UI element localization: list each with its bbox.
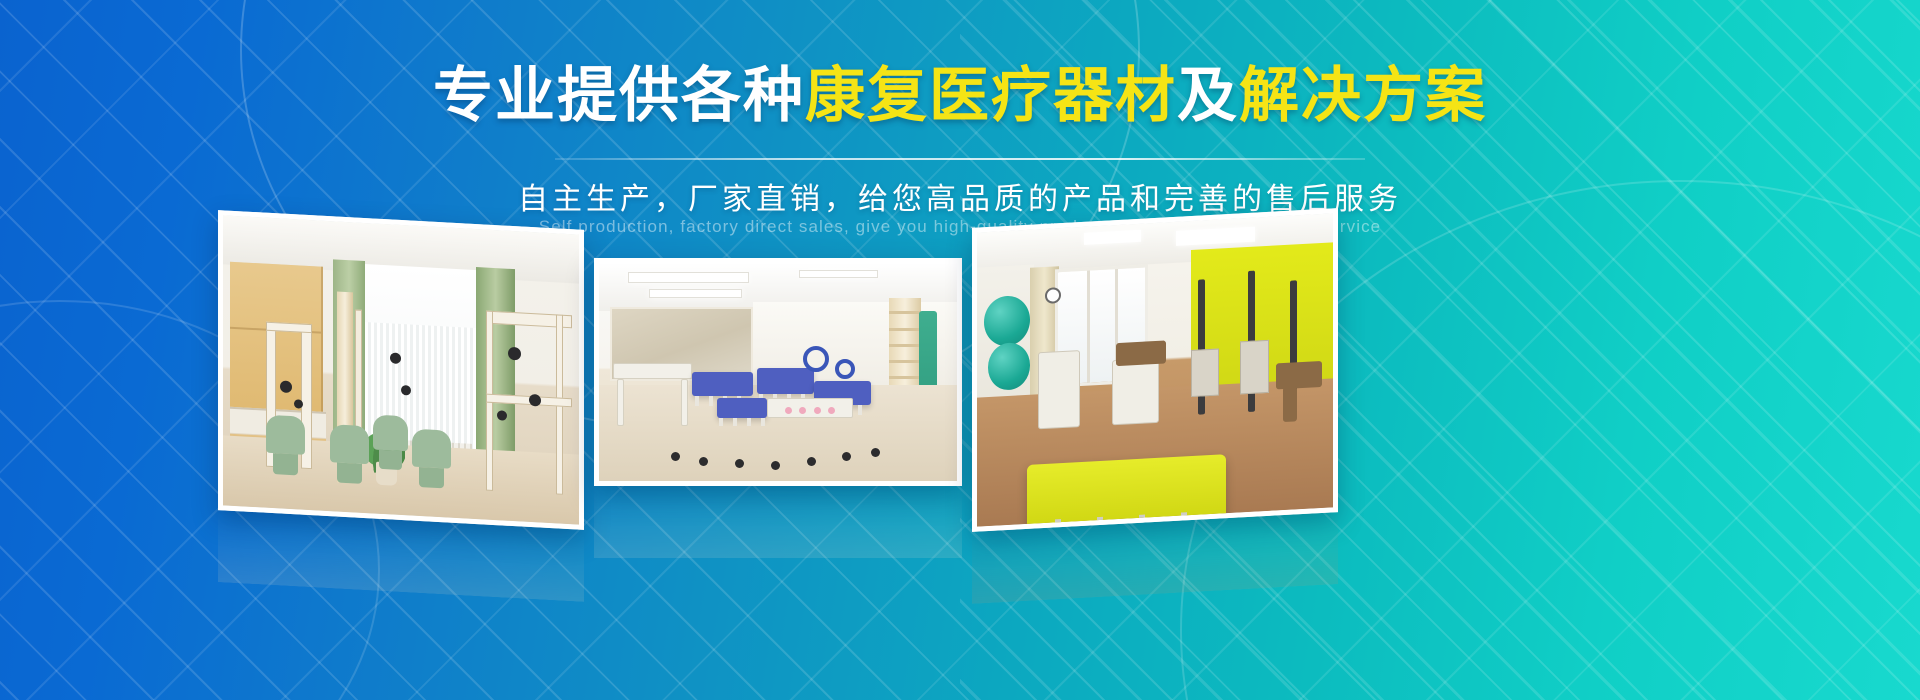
photo-mid-reflection — [594, 486, 962, 558]
photo-gallery — [0, 0, 1920, 700]
photo-mid-scene — [599, 263, 957, 481]
promo-banner: 专业提供各种康复医疗器材及解决方案 自主生产，厂家直销，给您高品质的产品和完善的… — [0, 0, 1920, 700]
photo-left-scene — [223, 215, 579, 524]
photo-mid[interactable] — [594, 258, 962, 486]
photo-left[interactable] — [218, 210, 584, 530]
photo-right-scene — [977, 213, 1333, 526]
photo-right[interactable] — [972, 208, 1338, 532]
